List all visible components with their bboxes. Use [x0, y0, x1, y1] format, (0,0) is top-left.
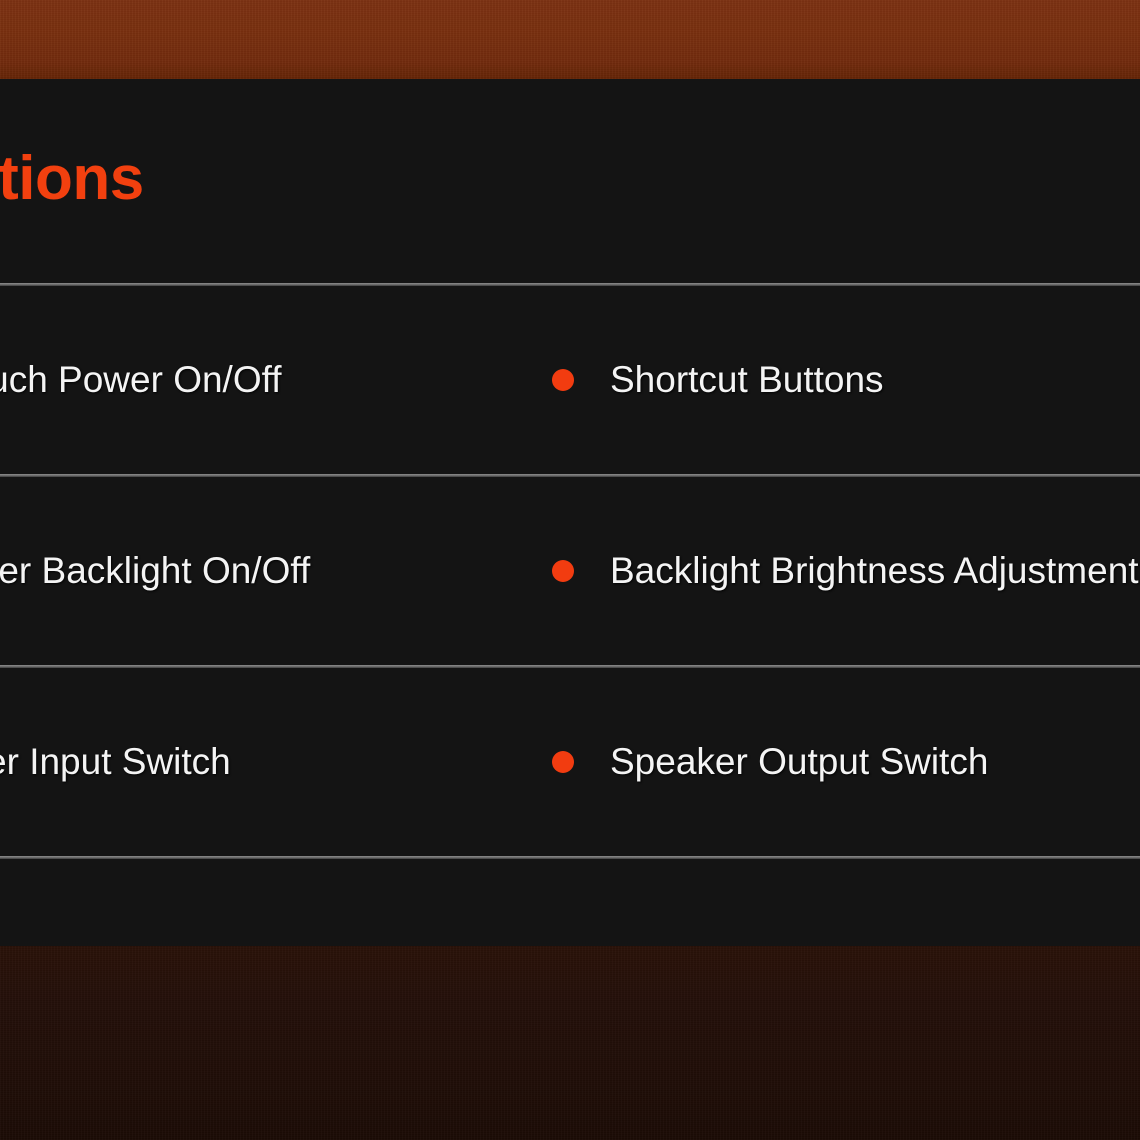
table-cell-left: One-touch Power On/Off — [0, 286, 552, 474]
slide-canvas: Functions One-touch Power On/Off Shortcu… — [0, 0, 1140, 1140]
table-cell-right: Shortcut Buttons — [552, 286, 1140, 474]
table-cell-left: VU Meter Backlight On/Off — [0, 477, 552, 665]
background-band-top — [0, 0, 1140, 79]
table-row: VU Meter Backlight On/Off Backlight Brig… — [0, 477, 1140, 665]
page-title: Functions — [0, 148, 552, 210]
table-cell-right: Backlight Brightness Adjustment — [552, 477, 1140, 665]
bullet-dot-icon — [552, 560, 574, 582]
table-cell-right: Speaker Output Switch — [552, 668, 1140, 856]
function-label-power: One-touch Power On/Off — [0, 361, 282, 400]
table-divider-bottom — [0, 856, 1140, 859]
bullet-dot-icon — [552, 751, 574, 773]
function-label-amplifier-input-switch: Amplifier Input Switch — [0, 743, 231, 782]
bullet-dot-icon — [552, 369, 574, 391]
function-label-backlight-brightness: Backlight Brightness Adjustment — [610, 552, 1139, 591]
background-band-bottom — [0, 946, 1140, 1140]
function-label-speaker-output-switch: Speaker Output Switch — [610, 743, 988, 782]
function-label-vu-meter-backlight: VU Meter Backlight On/Off — [0, 552, 310, 591]
functions-table: One-touch Power On/Off Shortcut Buttons … — [0, 283, 1140, 859]
table-row: Amplifier Input Switch Speaker Output Sw… — [0, 668, 1140, 856]
function-label-shortcut-buttons: Shortcut Buttons — [610, 361, 884, 400]
table-cell-left: Amplifier Input Switch — [0, 668, 552, 856]
table-row: One-touch Power On/Off Shortcut Buttons — [0, 286, 1140, 474]
